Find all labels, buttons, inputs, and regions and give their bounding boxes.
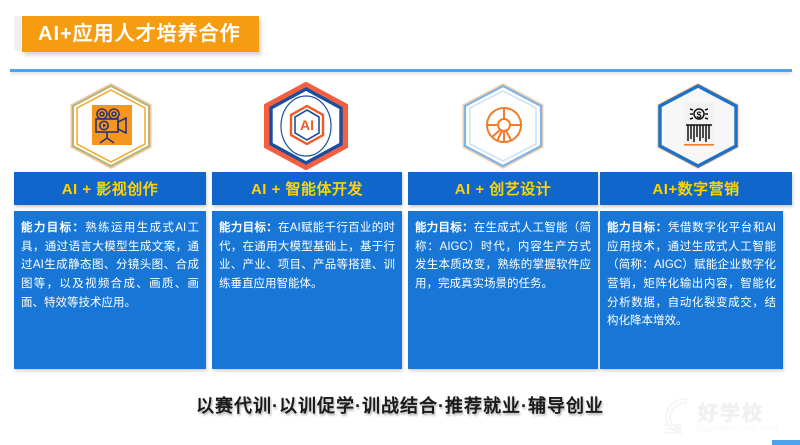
ai-badge-icon: AI — [284, 98, 330, 152]
card-body: 能力目标：在AI赋能千行百业的时代，在通用大模型基础上，基于行业、产业、项目、产… — [212, 211, 402, 369]
card-body: 能力目标：凭借数字化平台和AI应用技术，通过生成式人工智能（简称：AIGC）赋能… — [600, 211, 783, 369]
card-header: AI + 创艺设计 — [408, 172, 598, 205]
card-body: 能力目标：在生成式人工智能（简称：AIGC）时代，内容生产方式发生本质改变，熟练… — [408, 211, 598, 369]
card-body-text: 熟练运用生成式AI工具，通过语言大模型生成文案，通过AI生成静态图、分镜头图、合… — [21, 222, 199, 309]
svg-text:$: $ — [696, 110, 701, 120]
card-header: AI + 智能体开发 — [212, 172, 402, 205]
capability-cards: AI + 影视创作 能力目标：熟练运用生成式AI工具，通过语言大模型生成文案，通… — [0, 172, 800, 372]
hex-badge-film-video-creation — [63, 82, 159, 170]
header-left-accent-bar — [14, 16, 21, 51]
color-wheel-icon — [481, 98, 527, 152]
card-title: AI+数字营销 — [652, 178, 739, 199]
card-digital-marketing[interactable]: AI+数字营销 能力目标：凭借数字化平台和AI应用技术，通过生成式人工智能（简称… — [600, 172, 792, 369]
hex-badge-creative-art-design — [455, 82, 551, 170]
card-body-label: 能力目标： — [219, 222, 278, 234]
card-body-text: 凭借数字化平台和AI应用技术，通过生成式人工智能（简称：AIGC）赋能企业数字化… — [607, 222, 776, 327]
header-region: AI+应用人才培养合作 — [0, 0, 800, 72]
page-title: AI+应用人才培养合作 — [38, 24, 241, 44]
card-header: AI + 影视创作 — [14, 172, 206, 205]
card-film-video-creation[interactable]: AI + 影视创作 能力目标：熟练运用生成式AI工具，通过语言大模型生成文案，通… — [14, 172, 206, 369]
video-camera-icon — [89, 98, 135, 152]
page-title-banner: AI+应用人才培养合作 — [22, 16, 259, 52]
card-creative-art-design[interactable]: AI + 创艺设计 能力目标：在生成式人工智能（简称：AIGC）时代，内容生产方… — [408, 172, 598, 369]
icon-row: AI — [0, 82, 800, 170]
card-title: AI + 创艺设计 — [455, 178, 552, 199]
bottom-right-accent — [772, 440, 800, 445]
digital-marketing-icon: $ — [676, 98, 722, 152]
card-body-label: 能力目标： — [415, 222, 474, 234]
card-header: AI+数字营销 — [600, 172, 792, 205]
watermark-url: 91goodschool.com — [696, 423, 778, 433]
card-body-label: 能力目标： — [607, 222, 668, 234]
svg-text:AI: AI — [300, 117, 314, 133]
hex-badge-agent-development: AI — [258, 82, 354, 170]
card-title: AI + 影视创作 — [62, 178, 159, 199]
card-body-label: 能力目标： — [21, 222, 85, 234]
card-agent-development[interactable]: AI + 智能体开发 能力目标：在AI赋能千行百业的时代，在通用大模型基础上，基… — [212, 172, 402, 369]
header-divider — [10, 69, 792, 72]
footer-slogan: 以赛代训·以训促学·训战结合·推荐就业·辅导创业 — [0, 392, 800, 418]
card-title: AI + 智能体开发 — [251, 178, 363, 199]
hex-badge-digital-marketing: $ — [650, 82, 746, 170]
card-body: 能力目标：熟练运用生成式AI工具，通过语言大模型生成文案，通过AI生成静态图、分… — [14, 211, 206, 369]
